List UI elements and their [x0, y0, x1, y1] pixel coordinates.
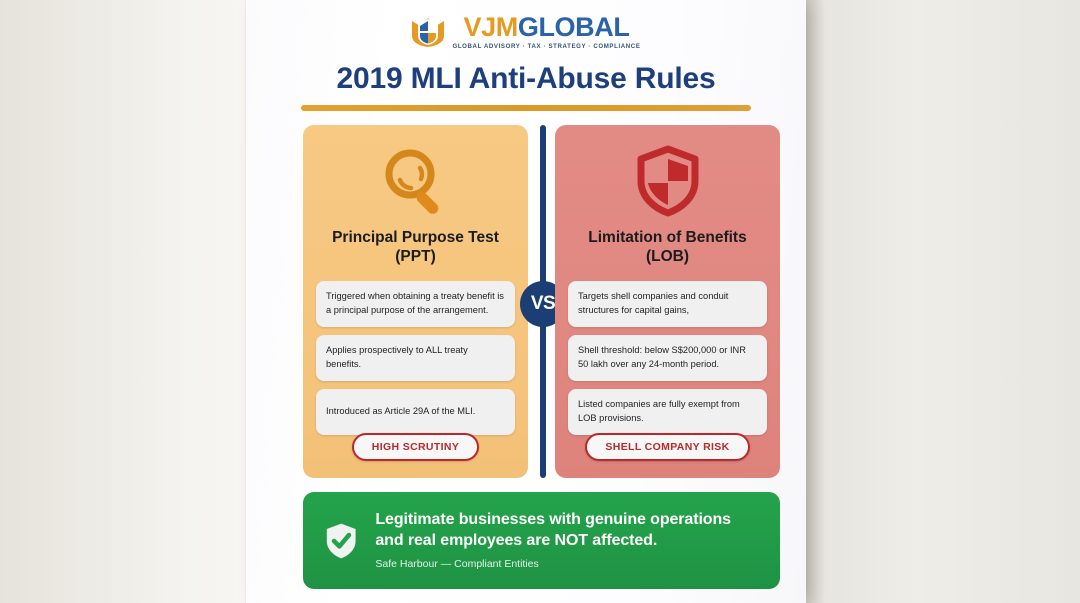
comparison-section: Principal Purpose Test (PPT) Triggered w… [303, 125, 780, 478]
card-heading-lob-line2: (LOB) [568, 248, 767, 267]
card-heading-ppt: Principal Purpose Test (PPT) [316, 229, 515, 267]
fact-list-lob: Targets shell companies and conduit stru… [568, 281, 767, 435]
logo-tagline: GLOBAL ADVISORY · TAX · STRATEGY · COMPL… [452, 44, 640, 50]
card-heading-lob-line1: Limitation of Benefits [568, 229, 767, 248]
fact-item: Triggered when obtaining a treaty benefi… [316, 281, 515, 327]
card-principal-purpose-test: Principal Purpose Test (PPT) Triggered w… [303, 125, 528, 478]
card-heading-lob: Limitation of Benefits (LOB) [568, 229, 767, 267]
fact-item: Applies prospectively to ALL treaty bene… [316, 335, 515, 381]
status-badge-shell-company-risk: SHELL COMPANY RISK [585, 433, 749, 461]
card-heading-ppt-line2: (PPT) [316, 248, 515, 267]
title-underline-rule [301, 105, 751, 111]
brand-logo: VJMGLOBAL GLOBAL ADVISORY · TAX · STRATE… [246, 14, 806, 50]
background-left-shade [0, 0, 245, 603]
fact-item: Targets shell companies and conduit stru… [568, 281, 767, 327]
fact-item: Shell threshold: below S$200,000 or INR … [568, 335, 767, 381]
logo-wordmark-vjm: VJM [464, 12, 518, 42]
fact-item: Introduced as Article 29A of the MLI. [316, 389, 515, 435]
logo-wordmark: VJMGLOBAL [464, 14, 630, 41]
infographic-sheet: VJMGLOBAL GLOBAL ADVISORY · TAX · STRATE… [246, 0, 806, 603]
safe-harbour-subtext: Safe Harbour — Compliant Entities [375, 558, 760, 571]
shield-crown-logo-icon [411, 17, 445, 48]
card-limitation-of-benefits: Limitation of Benefits (LOB) Targets she… [555, 125, 780, 478]
background-right-shade [806, 0, 1080, 603]
logo-wordmark-global: GLOBAL [518, 12, 630, 42]
magnifying-glass-icon [316, 143, 515, 219]
fact-item: Listed companies are fully exempt from L… [568, 389, 767, 435]
safe-harbour-panel: Legitimate businesses with genuine opera… [303, 492, 780, 589]
page-title: 2019 MLI Anti-Abuse Rules [246, 62, 806, 96]
shield-check-icon [325, 510, 357, 572]
shield-quadrant-icon [568, 143, 767, 219]
fact-list-ppt: Triggered when obtaining a treaty benefi… [316, 281, 515, 435]
card-heading-ppt-line1: Principal Purpose Test [316, 229, 515, 248]
status-badge-high-scrutiny: HIGH SCRUTINY [352, 433, 479, 461]
safe-harbour-headline: Legitimate businesses with genuine opera… [375, 510, 760, 551]
